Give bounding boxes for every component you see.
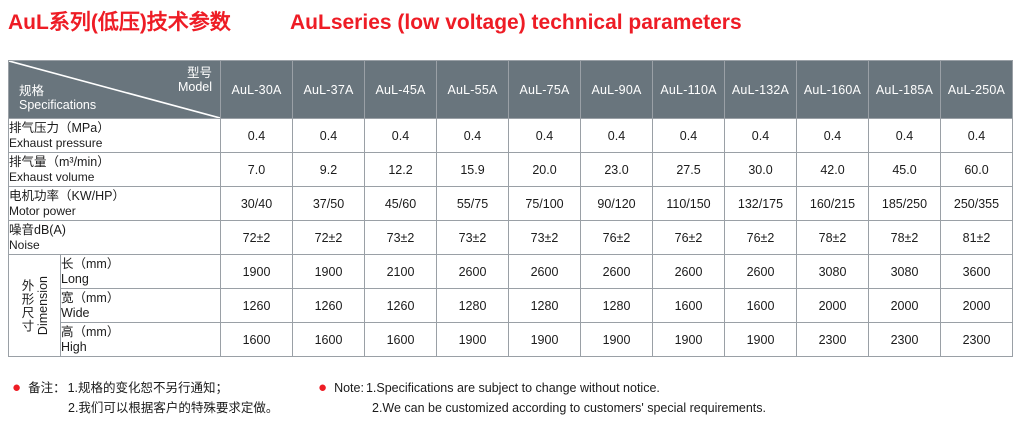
cell-long-4: 2600 xyxy=(509,255,581,289)
cell-exhaust-volume-6: 27.5 xyxy=(653,153,725,187)
header-model-aul-185a: AuL-185A xyxy=(869,61,941,119)
cell-exhaust-volume-8: 42.0 xyxy=(797,153,869,187)
row-label-motor-power: 电机功率（KW/HP） Motor power xyxy=(9,187,221,221)
footnote-english: ● Note: 1.Specifications are subject to … xyxy=(318,378,766,418)
cell-wide-9: 2000 xyxy=(869,289,941,323)
cell-motor-power-9: 185/250 xyxy=(869,187,941,221)
header-model-aul-160a: AuL-160A xyxy=(797,61,869,119)
cell-exhaust-volume-2: 12.2 xyxy=(365,153,437,187)
row-label-en: Exhaust volume xyxy=(9,170,220,185)
cell-high-9: 2300 xyxy=(869,323,941,357)
footnotes: ● 备注： 1.规格的变化恕不另行通知； 2.我们可以根据客户的特殊要求定做。 … xyxy=(8,378,1018,426)
table-row: 宽（mm） Wide 1260 1260 1260 1280 1280 1280… xyxy=(9,289,1013,323)
header-spec-cn: 规格 xyxy=(19,84,96,98)
cell-exhaust-volume-4: 20.0 xyxy=(509,153,581,187)
header-model-aul-75a: AuL-75A xyxy=(509,61,581,119)
footnote-cn-line-2: 2.我们可以根据客户的特殊要求定做。 xyxy=(12,398,278,418)
cell-wide-2: 1260 xyxy=(365,289,437,323)
header-model-label: 型号 Model xyxy=(178,66,212,94)
row-group-label-dimension: 外形尺寸 Dimension xyxy=(9,255,61,357)
row-label-cn: 宽（mm） xyxy=(61,291,220,306)
cell-long-0: 1900 xyxy=(221,255,293,289)
table-row: 排气量（m³/min） Exhaust volume 7.0 9.2 12.2 … xyxy=(9,153,1013,187)
cell-high-10: 2300 xyxy=(941,323,1013,357)
row-label-exhaust-volume: 排气量（m³/min） Exhaust volume xyxy=(9,153,221,187)
cell-motor-power-0: 30/40 xyxy=(221,187,293,221)
page-title-chinese: AuL系列(低压)技术参数 xyxy=(8,8,231,38)
cell-high-2: 1600 xyxy=(365,323,437,357)
dimension-label-cn: 外形尺寸 xyxy=(20,279,34,333)
cell-long-10: 3600 xyxy=(941,255,1013,289)
footnote-en-head: Note: xyxy=(334,378,364,398)
cell-long-6: 2600 xyxy=(653,255,725,289)
cell-exhaust-pressure-4: 0.4 xyxy=(509,119,581,153)
cell-noise-3: 73±2 xyxy=(437,221,509,255)
row-label-noise: 噪音dB(A) Noise xyxy=(9,221,221,255)
footnote-cn-line-1: ● 备注： 1.规格的变化恕不另行通知； xyxy=(12,378,278,398)
header-model-cn: 型号 xyxy=(178,66,212,80)
header-model-aul-30a: AuL-30A xyxy=(221,61,293,119)
header-model-aul-55a: AuL-55A xyxy=(437,61,509,119)
row-label-cn: 长（mm） xyxy=(61,257,220,272)
row-label-en: Noise xyxy=(9,238,220,253)
row-label-en: Long xyxy=(61,272,220,287)
cell-exhaust-pressure-8: 0.4 xyxy=(797,119,869,153)
spec-table-body: 排气压力（MPa） Exhaust pressure 0.4 0.4 0.4 0… xyxy=(9,119,1013,357)
cell-exhaust-pressure-1: 0.4 xyxy=(293,119,365,153)
header-model-aul-90a: AuL-90A xyxy=(581,61,653,119)
row-label-wide: 宽（mm） Wide xyxy=(61,289,221,323)
cell-motor-power-4: 75/100 xyxy=(509,187,581,221)
cell-exhaust-volume-5: 23.0 xyxy=(581,153,653,187)
header-model-aul-250a: AuL-250A xyxy=(941,61,1013,119)
cell-exhaust-pressure-10: 0.4 xyxy=(941,119,1013,153)
header-model-aul-45a: AuL-45A xyxy=(365,61,437,119)
cell-exhaust-volume-3: 15.9 xyxy=(437,153,509,187)
cell-exhaust-volume-0: 7.0 xyxy=(221,153,293,187)
table-row: 电机功率（KW/HP） Motor power 30/40 37/50 45/6… xyxy=(9,187,1013,221)
cell-noise-1: 72±2 xyxy=(293,221,365,255)
cell-high-8: 2300 xyxy=(797,323,869,357)
cell-exhaust-pressure-3: 0.4 xyxy=(437,119,509,153)
cell-high-3: 1900 xyxy=(437,323,509,357)
row-label-cn: 排气量（m³/min） xyxy=(9,155,220,170)
page-title-english: AuLseries (low voltage) technical parame… xyxy=(290,8,742,38)
page-title-english-lead: AuL xyxy=(290,11,331,34)
cell-high-5: 1900 xyxy=(581,323,653,357)
dimension-label-en: Dimension xyxy=(36,276,50,335)
cell-exhaust-pressure-0: 0.4 xyxy=(221,119,293,153)
cell-exhaust-volume-7: 30.0 xyxy=(725,153,797,187)
footnote-cn-text-2: 2.我们可以根据客户的特殊要求定做。 xyxy=(68,398,278,418)
header-row: 型号 Model 规格 Specifications AuL-30A AuL-3… xyxy=(9,61,1013,119)
cell-motor-power-8: 160/215 xyxy=(797,187,869,221)
bullet-icon: ● xyxy=(318,378,327,398)
cell-long-8: 3080 xyxy=(797,255,869,289)
cell-wide-0: 1260 xyxy=(221,289,293,323)
cell-noise-6: 76±2 xyxy=(653,221,725,255)
cell-exhaust-pressure-2: 0.4 xyxy=(365,119,437,153)
cell-wide-6: 1600 xyxy=(653,289,725,323)
cell-wide-5: 1280 xyxy=(581,289,653,323)
row-label-cn: 高（mm） xyxy=(61,325,220,340)
cell-long-3: 2600 xyxy=(437,255,509,289)
table-row: 噪音dB(A) Noise 72±2 72±2 73±2 73±2 73±2 7… xyxy=(9,221,1013,255)
cell-high-4: 1900 xyxy=(509,323,581,357)
row-label-cn: 电机功率（KW/HP） xyxy=(9,189,220,204)
page-title-english-rest: series (low voltage) technical parameter… xyxy=(331,11,742,34)
spec-table-head: 型号 Model 规格 Specifications AuL-30A AuL-3… xyxy=(9,61,1013,119)
cell-exhaust-pressure-6: 0.4 xyxy=(653,119,725,153)
table-row: 外形尺寸 Dimension 长（mm） Long 1900 1900 2100… xyxy=(9,255,1013,289)
row-label-en: Exhaust pressure xyxy=(9,136,220,151)
cell-motor-power-6: 110/150 xyxy=(653,187,725,221)
row-label-en: High xyxy=(61,340,220,355)
cell-exhaust-pressure-9: 0.4 xyxy=(869,119,941,153)
cell-high-1: 1600 xyxy=(293,323,365,357)
row-label-high: 高（mm） High xyxy=(61,323,221,357)
cell-high-6: 1900 xyxy=(653,323,725,357)
header-spec-en: Specifications xyxy=(19,98,96,112)
row-label-cn: 排气压力（MPa） xyxy=(9,121,220,136)
table-row: 排气压力（MPa） Exhaust pressure 0.4 0.4 0.4 0… xyxy=(9,119,1013,153)
footnote-en-line-2: 2.We can be customized according to cust… xyxy=(318,398,766,418)
cell-long-2: 2100 xyxy=(365,255,437,289)
footnote-cn-head: 备注： xyxy=(28,378,66,398)
footnote-en-text-2: 2.We can be customized according to cust… xyxy=(372,398,766,418)
cell-wide-3: 1280 xyxy=(437,289,509,323)
header-model-en: Model xyxy=(178,80,212,94)
cell-wide-10: 2000 xyxy=(941,289,1013,323)
cell-exhaust-pressure-7: 0.4 xyxy=(725,119,797,153)
cell-motor-power-1: 37/50 xyxy=(293,187,365,221)
cell-noise-0: 72±2 xyxy=(221,221,293,255)
row-label-en: Motor power xyxy=(9,204,220,219)
header-model-aul-110a: AuL-110A xyxy=(653,61,725,119)
cell-motor-power-2: 45/60 xyxy=(365,187,437,221)
row-label-exhaust-pressure: 排气压力（MPa） Exhaust pressure xyxy=(9,119,221,153)
page-root: AuL系列(低压)技术参数 AuLseries (low voltage) te… xyxy=(0,0,1024,431)
spec-table-wrapper: 型号 Model 规格 Specifications AuL-30A AuL-3… xyxy=(8,60,1012,357)
footnote-cn-text-1: 1.规格的变化恕不另行通知； xyxy=(68,378,228,398)
cell-long-1: 1900 xyxy=(293,255,365,289)
spec-table: 型号 Model 规格 Specifications AuL-30A AuL-3… xyxy=(8,60,1013,357)
cell-high-0: 1600 xyxy=(221,323,293,357)
footnote-en-line-1: ● Note: 1.Specifications are subject to … xyxy=(318,378,766,398)
cell-noise-2: 73±2 xyxy=(365,221,437,255)
cell-noise-5: 76±2 xyxy=(581,221,653,255)
cell-long-9: 3080 xyxy=(869,255,941,289)
header-model-aul-132a: AuL-132A xyxy=(725,61,797,119)
row-label-en: Wide xyxy=(61,306,220,321)
cell-noise-10: 81±2 xyxy=(941,221,1013,255)
row-label-cn: 噪音dB(A) xyxy=(9,223,220,238)
table-row: 高（mm） High 1600 1600 1600 1900 1900 1900… xyxy=(9,323,1013,357)
cell-high-7: 1900 xyxy=(725,323,797,357)
cell-wide-1: 1260 xyxy=(293,289,365,323)
cell-noise-9: 78±2 xyxy=(869,221,941,255)
cell-motor-power-3: 55/75 xyxy=(437,187,509,221)
bullet-icon: ● xyxy=(12,378,21,398)
cell-motor-power-10: 250/355 xyxy=(941,187,1013,221)
cell-wide-8: 2000 xyxy=(797,289,869,323)
cell-exhaust-volume-9: 45.0 xyxy=(869,153,941,187)
cell-noise-8: 78±2 xyxy=(797,221,869,255)
cell-noise-7: 76±2 xyxy=(725,221,797,255)
cell-motor-power-5: 90/120 xyxy=(581,187,653,221)
cell-noise-4: 73±2 xyxy=(509,221,581,255)
cell-wide-4: 1280 xyxy=(509,289,581,323)
header-model-aul-37a: AuL-37A xyxy=(293,61,365,119)
row-label-long: 长（mm） Long xyxy=(61,255,221,289)
footnote-en-text-1: 1.Specifications are subject to change w… xyxy=(366,378,660,398)
cell-motor-power-7: 132/175 xyxy=(725,187,797,221)
cell-exhaust-volume-10: 60.0 xyxy=(941,153,1013,187)
cell-long-5: 2600 xyxy=(581,255,653,289)
cell-wide-7: 1600 xyxy=(725,289,797,323)
footnote-chinese: ● 备注： 1.规格的变化恕不另行通知； 2.我们可以根据客户的特殊要求定做。 xyxy=(12,378,278,418)
cell-exhaust-volume-1: 9.2 xyxy=(293,153,365,187)
cell-long-7: 2600 xyxy=(725,255,797,289)
cell-exhaust-pressure-5: 0.4 xyxy=(581,119,653,153)
header-specifications-label: 规格 Specifications xyxy=(19,84,96,112)
title-row: AuL系列(低压)技术参数 AuLseries (low voltage) te… xyxy=(0,8,1024,42)
header-corner-cell: 型号 Model 规格 Specifications xyxy=(9,61,221,119)
